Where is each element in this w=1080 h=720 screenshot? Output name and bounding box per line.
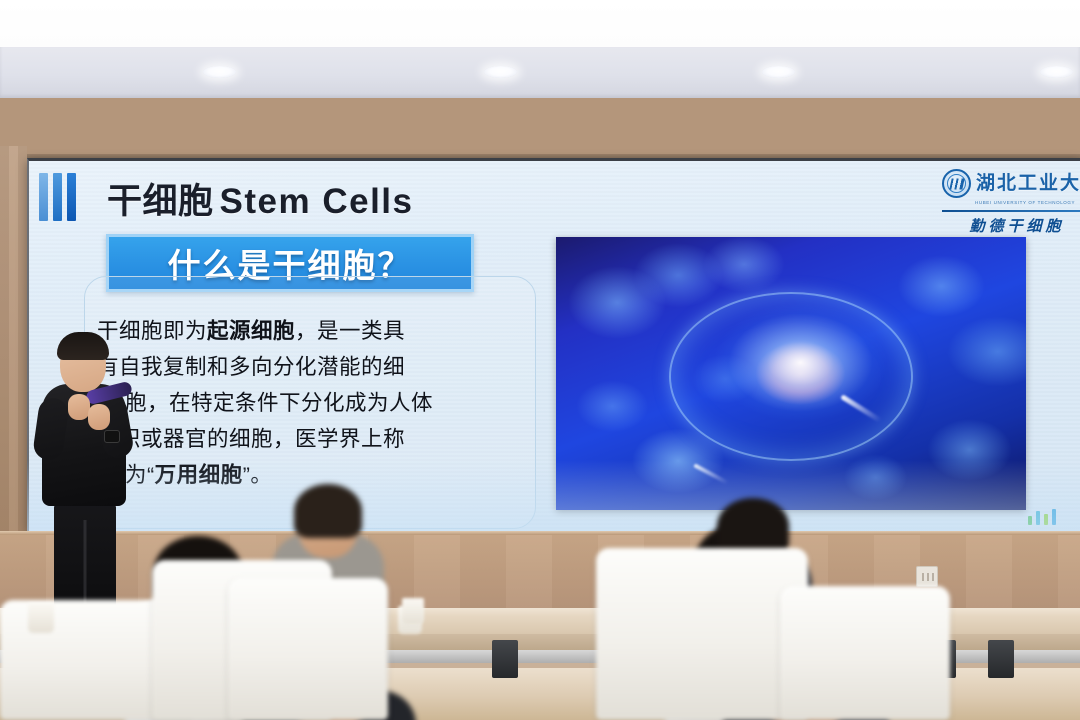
university-logo-block: 湖北工业大 HUBEI UNIVERSITY OF TECHNOLOGY 勤德干…	[942, 169, 1080, 236]
chair-right-2	[780, 586, 950, 720]
slide-body-line: 干细胞即为起源细胞，是一类具	[97, 313, 527, 349]
downlight-3	[762, 66, 795, 78]
desk-bracket-2	[492, 640, 518, 678]
downlight-2	[484, 66, 517, 78]
downlight-1	[203, 66, 236, 78]
mini-bar-2	[1036, 511, 1040, 525]
accent-bar-3	[67, 173, 76, 221]
accent-bar-2	[53, 173, 62, 221]
mini-bar-3	[1044, 514, 1048, 525]
accent-bar-1	[39, 173, 48, 221]
slide-body-text: 干细胞即为起源细胞，是一类具有自我复制和多向分化潜能的细胞，在特定条件下分化成为…	[97, 313, 527, 493]
slide-title-cn: 干细胞	[107, 182, 214, 221]
mini-bar-1	[1028, 516, 1032, 525]
logo-divider	[942, 210, 1080, 212]
university-name-en: HUBEI UNIVERSITY OF TECHNOLOGY	[975, 200, 1080, 205]
upper-wood-wall	[0, 98, 1080, 160]
chair-right-1	[596, 548, 808, 720]
slide-mini-bar-decoration	[1028, 507, 1056, 525]
central-cell-membrane	[669, 292, 913, 461]
cup-left	[28, 603, 54, 633]
presenter-left-hand	[68, 394, 90, 420]
cell-tail-2	[694, 463, 729, 484]
stem-cell-image	[556, 237, 1026, 510]
downlight-4	[1040, 66, 1073, 78]
presenter-right-hand	[88, 404, 110, 430]
audience-hair	[294, 484, 362, 538]
cup-right	[402, 598, 424, 624]
ceiling-upper-panel	[0, 0, 1080, 47]
university-name-cn: 湖北工业大	[976, 174, 1080, 193]
desk-bracket-4	[988, 640, 1014, 678]
slide-body-line: 有自我复制和多向分化潜能的细	[97, 349, 527, 385]
wall-outlet-icon	[916, 566, 938, 587]
slide-body-line: 组织或器官的细胞，医学界上称	[97, 421, 527, 457]
brand-subtitle-cn: 勤德干细胞	[942, 215, 1080, 236]
logo-row: 湖北工业大	[942, 169, 1080, 198]
projection-screen: 干细胞Stem Cells 湖北工业大 HUBEI UNIVERSITY OF …	[27, 158, 1080, 531]
university-seal-icon	[942, 169, 971, 198]
slide-title: 干细胞Stem Cells	[107, 173, 413, 224]
slide-body-line: 胞，在特定条件下分化成为人体	[97, 385, 527, 421]
chair-mid	[228, 578, 388, 720]
title-accent-bars	[39, 173, 76, 221]
left-wood-column	[0, 146, 27, 566]
slide-title-en: Stem Cells	[220, 182, 414, 221]
lecture-hall-scene: 干细胞Stem Cells 湖北工业大 HUBEI UNIVERSITY OF …	[0, 0, 1080, 720]
ceiling-soffit	[0, 47, 1080, 98]
audience-hair	[717, 498, 788, 555]
presenter-hair	[57, 332, 109, 360]
presenter-wristwatch	[104, 430, 120, 443]
mini-bar-4	[1052, 509, 1056, 525]
